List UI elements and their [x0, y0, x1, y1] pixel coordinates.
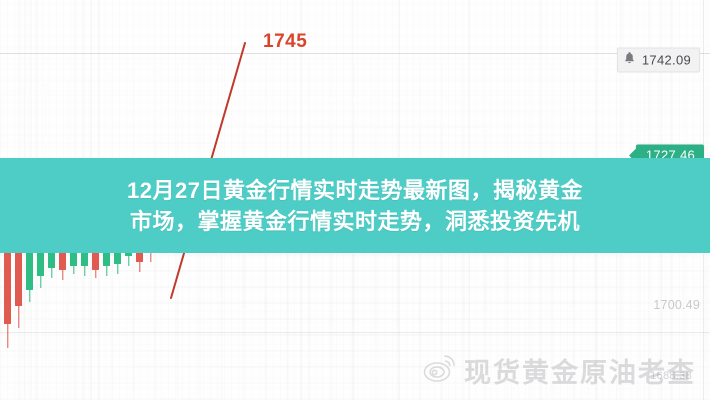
watermark: 现货黄金原油老查 — [423, 351, 696, 390]
article-title-line-2: 市场，掌握黄金行情实时走势，洞悉投资先机 — [130, 206, 580, 237]
price-alert-chip[interactable]: 1742.09 — [617, 48, 700, 73]
watermark-text: 现货黄金原油老查 — [464, 351, 696, 390]
screenshot-root: 1745 1742.09 1727.46 1714.60 1700.49 12月… — [0, 0, 710, 400]
article-title-line-1: 12月27日黄金行情实时走势最新图，揭秘黄金 — [127, 175, 583, 206]
alert-price-value: 1742.09 — [642, 53, 691, 68]
annotation-1745: 1745 — [263, 31, 307, 53]
article-title-banner: 12月27日黄金行情实时走势最新图，揭秘黄金 市场，掌握黄金行情实时走势，洞悉投… — [0, 158, 710, 253]
bell-icon — [623, 51, 636, 70]
price-axis-label-1700: 1700.49 — [653, 298, 700, 312]
weibo-logo-icon — [423, 353, 457, 388]
